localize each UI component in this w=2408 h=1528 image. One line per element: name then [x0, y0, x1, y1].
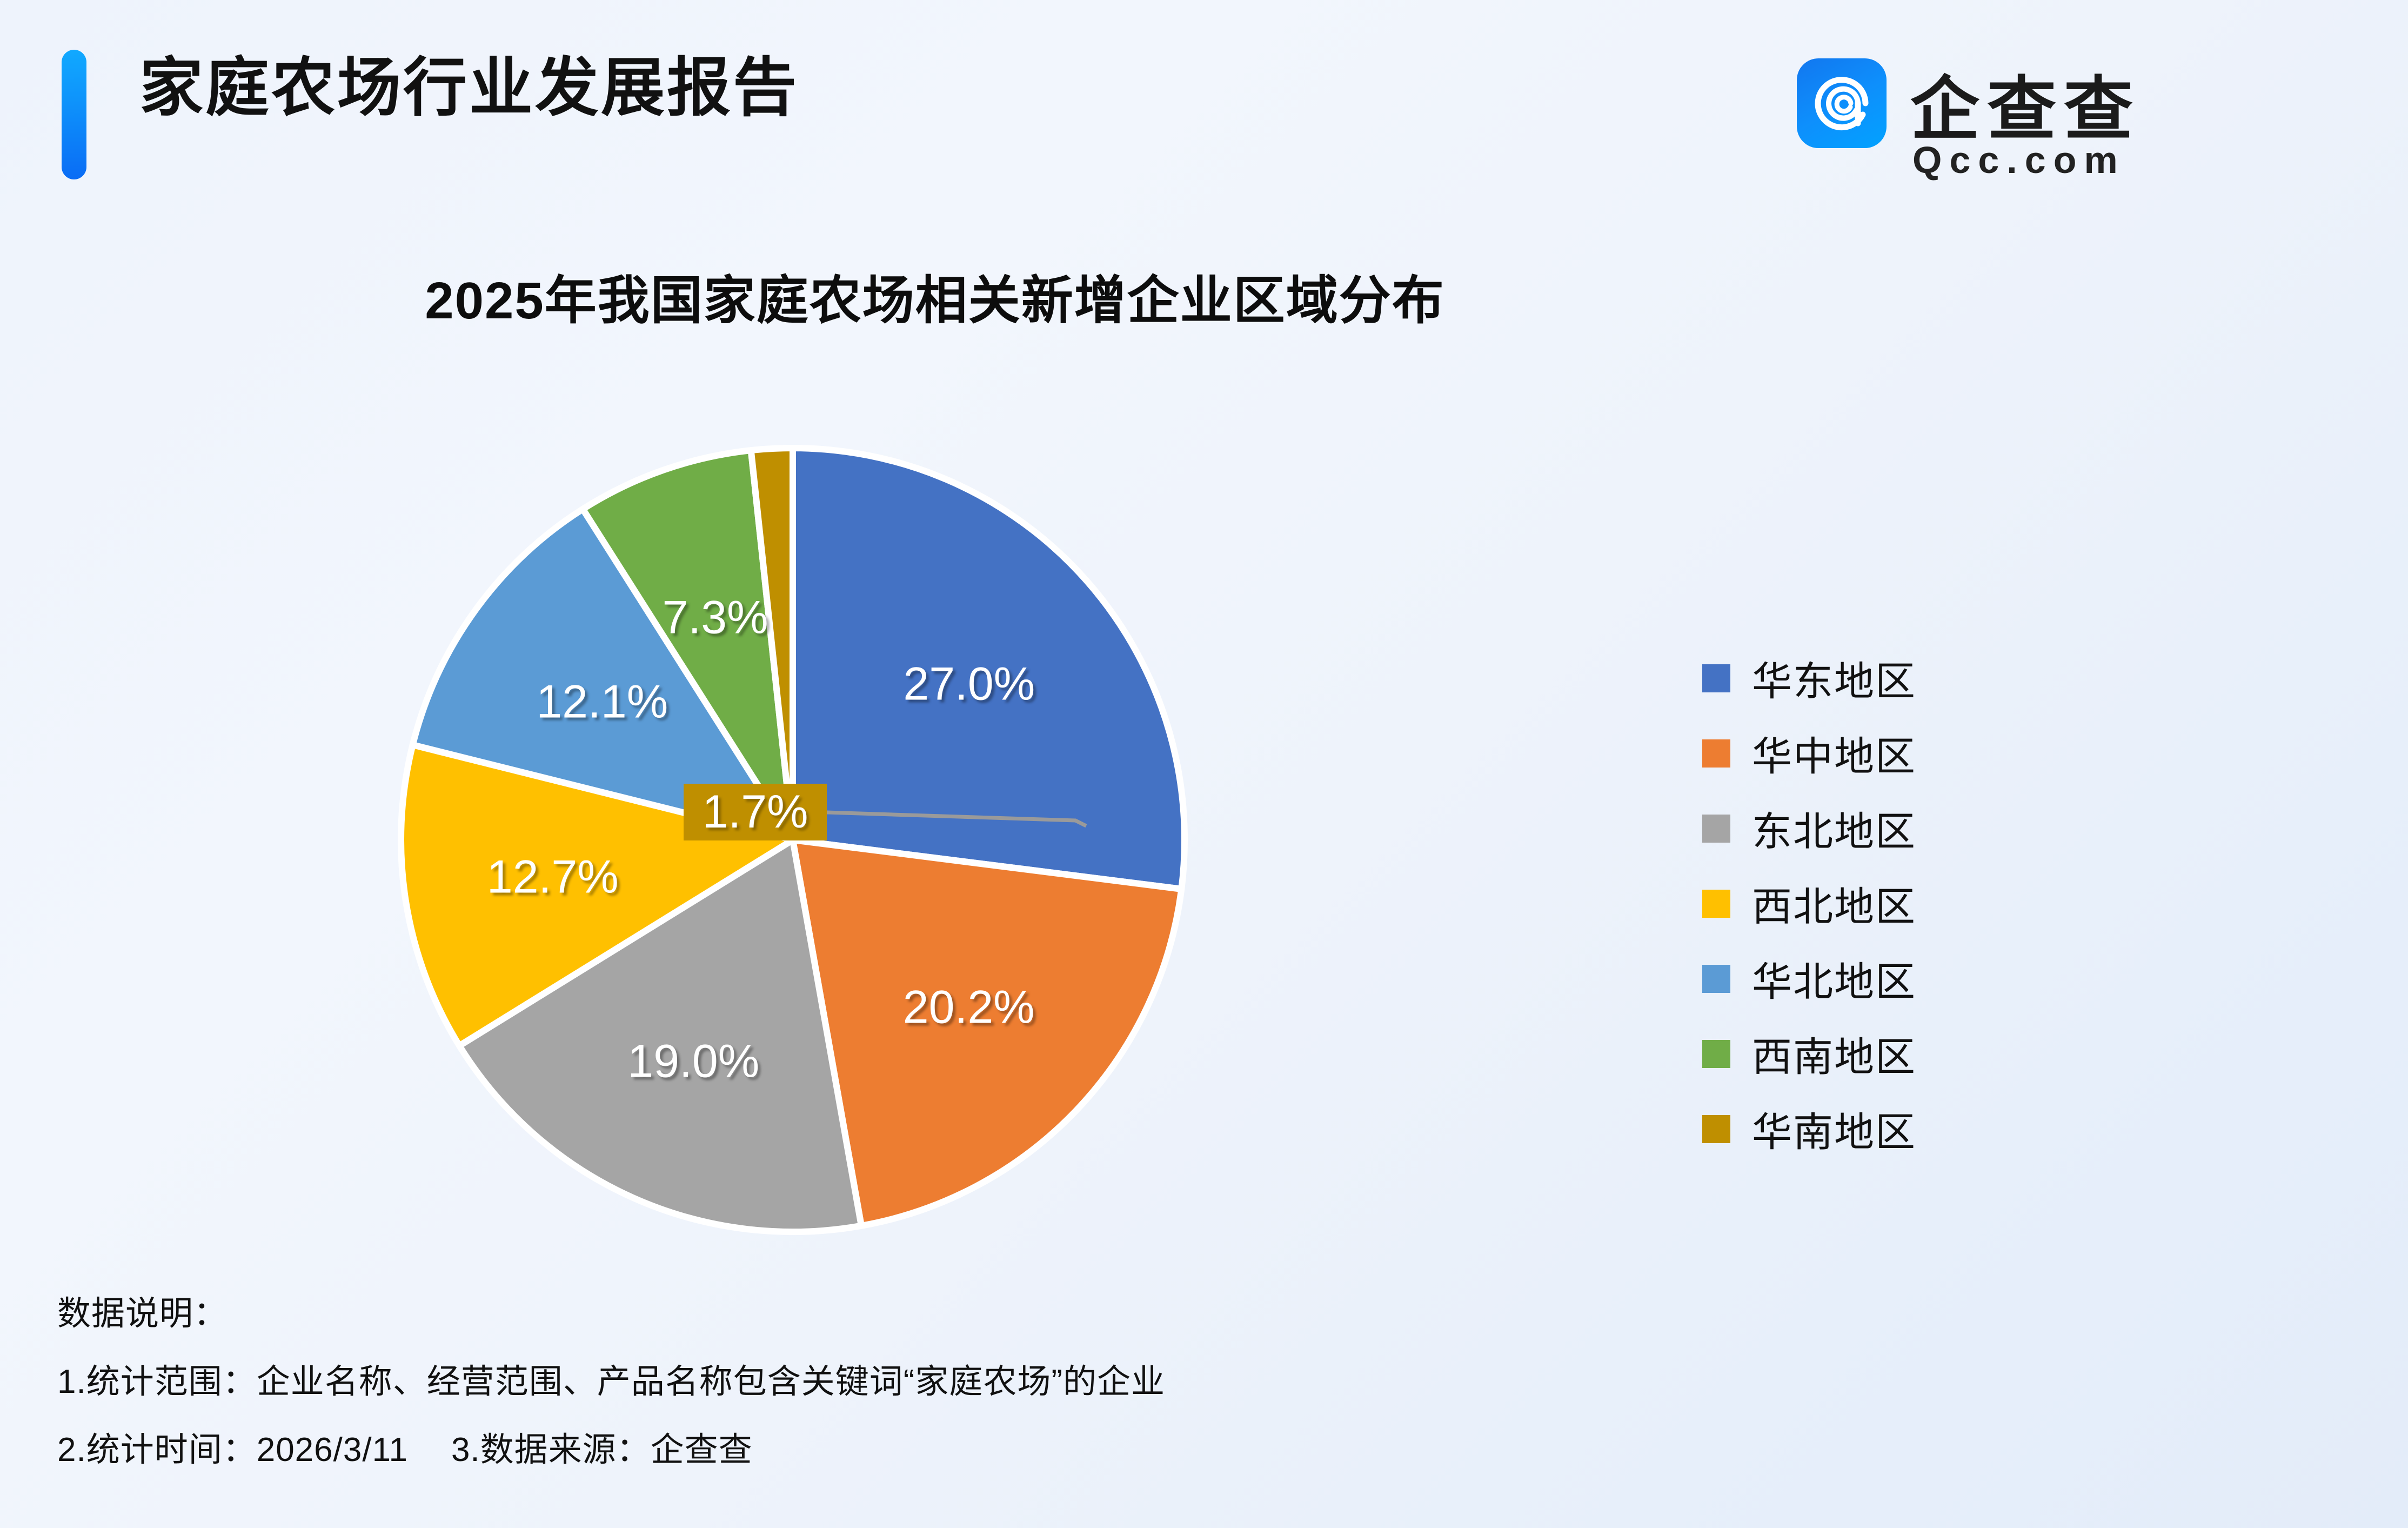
pie-slice-label: 7.3% [662, 591, 768, 645]
legend-item-label: 东北地区 [1752, 799, 1916, 857]
legend-item[interactable]: 华南地区 [1702, 1091, 2081, 1166]
legend-item-label: 华南地区 [1752, 1100, 1916, 1158]
legend-swatch-icon [1702, 739, 1730, 768]
legend-item[interactable]: 东北地区 [1702, 791, 2081, 866]
legend-swatch-icon [1702, 664, 1730, 692]
pie-slice-label: 27.0% [903, 658, 1035, 711]
callout-label-text: 1.7% [684, 784, 827, 840]
title-accent-bar [62, 50, 86, 179]
pie-slice-label: 12.1% [536, 676, 668, 729]
legend-item[interactable]: 华北地区 [1702, 941, 2081, 1016]
pie-chart-svg [303, 378, 1437, 1297]
brand-logo[interactable]: 企查查 Qcc.com [1797, 32, 2337, 184]
footer-note-scope: 1.统计范围：企业名称、经营范围、产品名称包含关键词“家庭农场”的企业 [57, 1365, 2327, 1399]
legend-item-label: 华东地区 [1752, 649, 1916, 707]
footer-note-time-source: 2.统计时间：2026/3/113.数据来源：企查查 [57, 1433, 2327, 1467]
page-header: 家庭农场行业发展报告 企查查 Qcc.com [0, 0, 2408, 216]
legend-swatch-icon [1702, 1040, 1730, 1068]
pie-slice-label: 19.0% [627, 1035, 759, 1089]
legend-swatch-icon [1702, 890, 1730, 918]
chart-legend: 华东地区华中地区东北地区西北地区华北地区西南地区华南地区 [1702, 640, 2081, 1166]
page-title: 家庭农场行业发展报告 [139, 50, 799, 127]
callout-label-huanan: 1.7% [684, 784, 827, 840]
legend-item[interactable]: 华东地区 [1702, 640, 2081, 716]
legend-item[interactable]: 西南地区 [1702, 1016, 2081, 1091]
legend-swatch-icon [1702, 815, 1730, 843]
brand-domain: Qcc.com [1912, 138, 2125, 182]
legend-item-label: 华北地区 [1752, 950, 1916, 1007]
pie-chart: 27.0%20.2%19.0%12.7%12.1%7.3% 1.7% [303, 378, 1437, 1297]
footer-note-time: 2.统计时间：2026/3/11 [57, 1431, 408, 1469]
legend-swatch-icon [1702, 1115, 1730, 1143]
pie-slice-label: 12.7% [487, 850, 619, 904]
pie-slice-label: 20.2% [903, 980, 1035, 1034]
qcc-spiral-q-icon [1797, 58, 1887, 148]
footer-heading: 数据说明： [57, 1297, 2327, 1331]
legend-item-label: 西北地区 [1752, 875, 1916, 932]
legend-item[interactable]: 西北地区 [1702, 866, 2081, 941]
legend-item-label: 西南地区 [1752, 1025, 1916, 1083]
footer-note-source: 3.数据来源：企查查 [451, 1431, 753, 1469]
legend-swatch-icon [1702, 965, 1730, 993]
footer-notes: 数据说明： 1.统计范围：企业名称、经营范围、产品名称包含关键词“家庭农场”的企… [57, 1297, 2327, 1467]
chart-title: 2025年我国家庭农场相关新增企业区域分布 [0, 258, 1870, 333]
legend-item-label: 华中地区 [1752, 724, 1916, 782]
legend-item[interactable]: 华中地区 [1702, 716, 2081, 791]
